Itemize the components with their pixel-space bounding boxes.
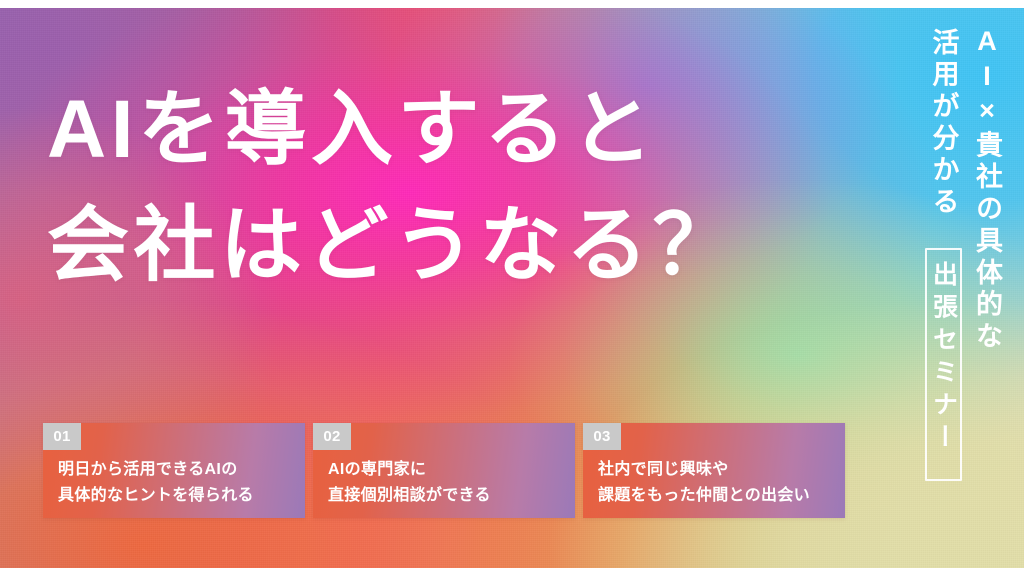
frame-bar-bottom — [0, 568, 1024, 576]
poster-canvas: AIを導入すると 会社はどうなる？ 活用が分かる 出張セミナー AI×貴社の具体… — [0, 0, 1024, 576]
benefit-card: 01 明日から活用できるAIの 具体的なヒントを得られる — [43, 423, 305, 518]
benefit-card-text: 社内で同じ興味や 課題をもった仲間との出会い — [598, 457, 837, 509]
headline: AIを導入すると 会社はどうなる？ — [47, 72, 739, 305]
benefit-card-number: 03 — [583, 423, 621, 450]
benefit-card-number: 02 — [313, 423, 351, 450]
benefit-card-text-line-2: 直接個別相談ができる — [328, 483, 567, 509]
seminar-label-frame: 出張セミナー — [925, 248, 962, 481]
vertical-copy-left-column: 活用が分かる 出張セミナー — [917, 26, 969, 481]
benefit-card-text-line-1: 明日から活用できるAIの — [58, 457, 297, 483]
vertical-subtitle: 活用が分かる — [930, 28, 957, 240]
benefit-card-text: AIの専門家に 直接個別相談ができる — [328, 457, 567, 509]
benefit-card-text-line-1: AIの専門家に — [328, 457, 567, 483]
benefit-card-text-line-2: 具体的なヒントを得られる — [58, 483, 297, 509]
benefit-card-list: 01 明日から活用できるAIの 具体的なヒントを得られる 02 AIの専門家に … — [43, 423, 845, 518]
vertical-copy-block: 活用が分かる 出張セミナー AI×貴社の具体的な — [917, 26, 1006, 481]
seminar-label: 出張セミナー — [931, 261, 956, 467]
benefit-card-text: 明日から活用できるAIの 具体的なヒントを得られる — [58, 457, 297, 509]
vertical-headline: AI×貴社の具体的な — [969, 26, 1000, 316]
benefit-card-text-line-1: 社内で同じ興味や — [598, 457, 837, 483]
benefit-card: 03 社内で同じ興味や 課題をもった仲間との出会い — [583, 423, 845, 518]
benefit-card: 02 AIの専門家に 直接個別相談ができる — [313, 423, 575, 518]
frame-bar-top — [0, 0, 1024, 8]
headline-line-1: AIを導入すると — [47, 72, 739, 188]
headline-line-2: 会社はどうなる？ — [47, 188, 739, 304]
benefit-card-number: 01 — [43, 423, 81, 450]
benefit-card-text-line-2: 課題をもった仲間との出会い — [598, 483, 837, 509]
